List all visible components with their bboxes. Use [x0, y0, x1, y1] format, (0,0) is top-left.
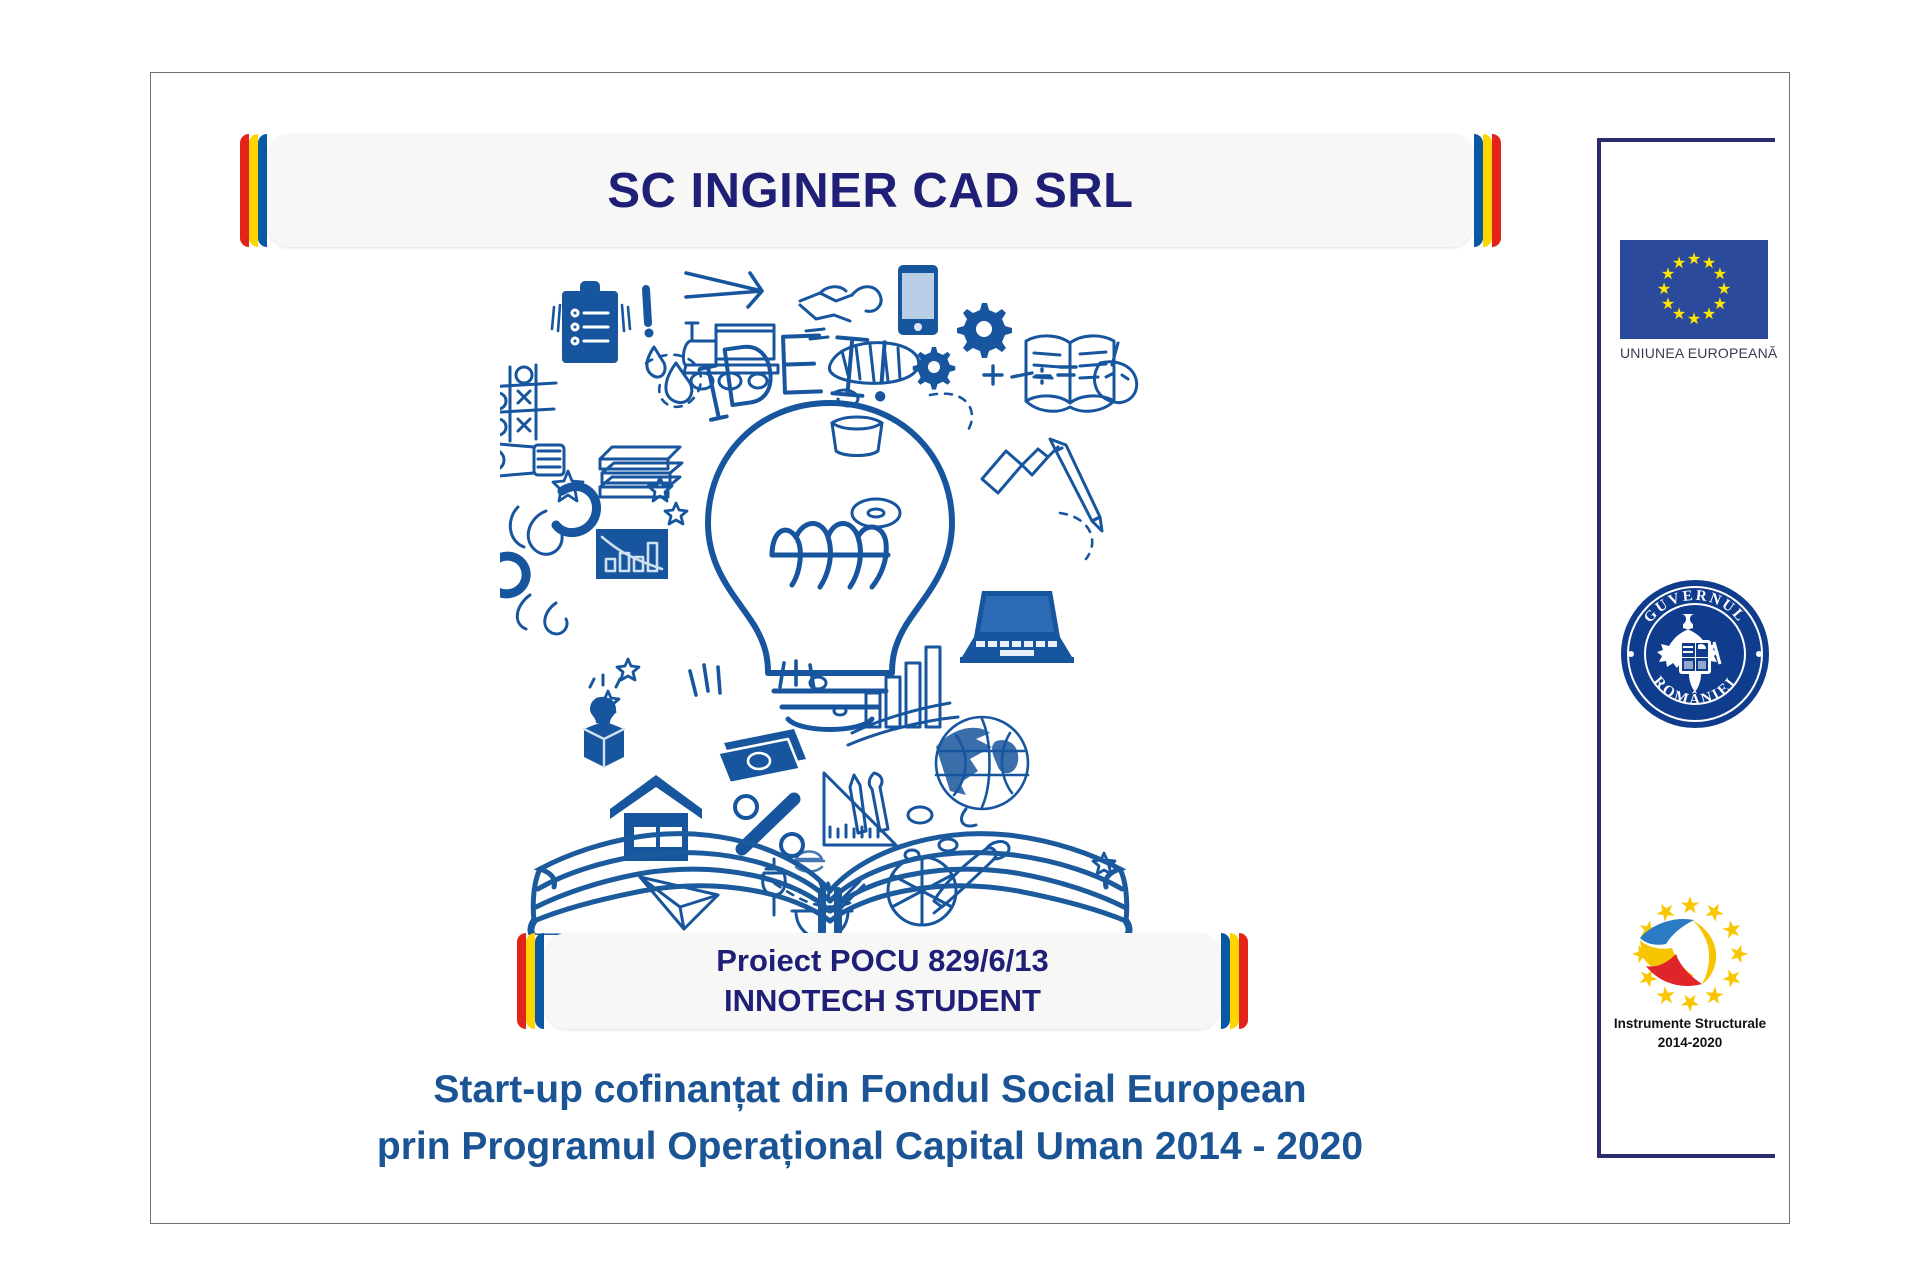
project-code-text: Proiect POCU 829/6/13: [716, 941, 1049, 981]
eu-star-icon: ★: [1687, 252, 1701, 268]
funding-headline-line-2: prin Programul Operațional Capital Uman …: [150, 1119, 1590, 1176]
lightbulb-doodle-illustration: [500, 255, 1160, 935]
eu-star-icon: ★: [1702, 307, 1716, 323]
eu-star-icon: ★: [1687, 312, 1701, 328]
poster-canvas: SC INGINER CAD SRL: [0, 0, 1919, 1287]
company-title-banner: SC INGINER CAD SRL: [268, 134, 1473, 247]
project-banner-inner: Proiect POCU 829/6/13 INNOTECH STUDENT: [545, 933, 1220, 1029]
romanian-government-seal: GUVERNUL ROMÂNIEI: [1615, 578, 1775, 730]
company-title-text: SC INGINER CAD SRL: [607, 163, 1133, 219]
structural-caption-line-1: Instrumente Structurale: [1600, 1016, 1780, 1033]
eu-star-icon: ★: [1672, 256, 1686, 272]
company-title-inner: SC INGINER CAD SRL: [268, 134, 1473, 247]
project-name-text: INNOTECH STUDENT: [724, 981, 1041, 1021]
funding-headline-line-1: Start-up cofinanțat din Fondul Social Eu…: [150, 1062, 1590, 1119]
eu-logo: ★★★★★★★★★★★★ UNIUNEA EUROPEANĂ: [1620, 240, 1770, 361]
structural-instruments-logo: Instrumente Structurale 2014-2020: [1600, 892, 1780, 1052]
eu-star-icon: ★: [1661, 297, 1675, 313]
eu-flag-icon: ★★★★★★★★★★★★: [1620, 240, 1768, 339]
structural-instruments-icon: [1618, 892, 1762, 1014]
gov-seal-icon: GUVERNUL ROMÂNIEI: [1619, 578, 1771, 730]
eu-star-icon: ★: [1657, 282, 1671, 298]
eu-logo-caption: UNIUNEA EUROPEANĂ: [1620, 345, 1770, 361]
structural-caption-line-2: 2014-2020: [1600, 1035, 1780, 1052]
funding-headline: Start-up cofinanțat din Fondul Social Eu…: [150, 1062, 1590, 1175]
project-banner: Proiect POCU 829/6/13 INNOTECH STUDENT: [545, 933, 1220, 1029]
